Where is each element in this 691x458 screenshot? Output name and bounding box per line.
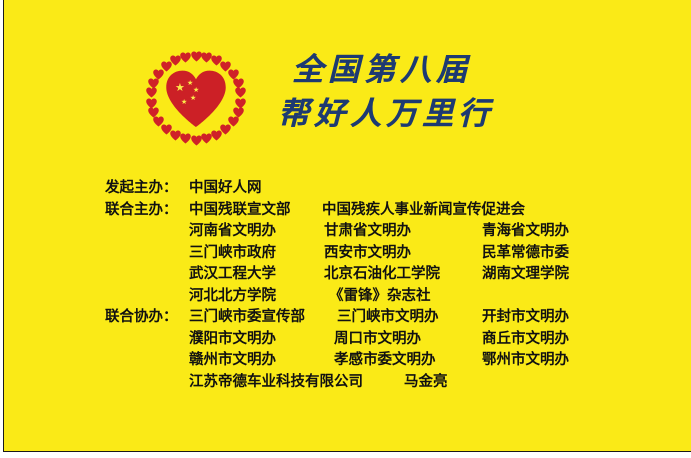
credit-entry: 河北北方学院 xyxy=(189,284,276,305)
credit-label: 联合主办： xyxy=(105,198,189,219)
credit-entry: 开封市文明办 xyxy=(482,305,569,326)
credit-entry: 三门峡市委宣传部 xyxy=(189,305,305,326)
credit-entry: 江苏帝德车业科技有限公司 xyxy=(189,370,363,391)
credit-row: 赣州市文明办孝感市委文明办鄂州市文明办 xyxy=(4,348,691,370)
credit-entry: 商丘市文明办 xyxy=(482,327,569,348)
credit-entry: 三门峡市文明办 xyxy=(337,305,439,326)
mini-heart-icon xyxy=(191,51,202,62)
credit-row: 河北北方学院《雷锋》杂志社 xyxy=(4,284,691,306)
credit-entry: 马金亮 xyxy=(404,370,448,391)
big-heart-icon: ★ ★ ★ ★ ★ xyxy=(165,70,227,127)
credit-entry: 北京石油化工学院 xyxy=(324,262,440,283)
flag-star-large: ★ xyxy=(175,83,185,92)
credit-row: 濮阳市文明办周口市文明办商丘市文明办 xyxy=(4,327,691,349)
title-line-1: 全国第八届 xyxy=(292,48,572,92)
credit-entry: 河南省文明办 xyxy=(189,219,276,240)
poster-header: ★ ★ ★ ★ ★ 全国第八届 帮好人万里行 xyxy=(4,40,691,155)
credit-entry: 青海省文明办 xyxy=(482,219,569,240)
credit-entry: 鄂州市文明办 xyxy=(482,348,569,369)
credit-entry: 中国好人网 xyxy=(189,176,262,197)
credit-label: 发起主办： xyxy=(105,176,189,197)
credit-entry: 武汉工程大学 xyxy=(189,262,276,283)
credit-entry: 中国残疾人事业新闻宣传促进会 xyxy=(322,198,525,219)
title-line-2: 帮好人万里行 xyxy=(278,92,572,136)
credit-entry: 中国残联宣文部 xyxy=(189,198,291,219)
credit-entry: 甘肃省文明办 xyxy=(324,219,411,240)
mini-heart-icon xyxy=(180,52,191,63)
flag-star-3: ★ xyxy=(190,94,196,103)
flag-star-4: ★ xyxy=(181,98,187,107)
mini-heart-icon xyxy=(191,135,202,146)
mini-heart-icon xyxy=(146,98,157,109)
credit-entry: 民革常德市委 xyxy=(482,241,569,262)
credits-block: 发起主办：中国好人网联合主办：中国残联宣文部中国残疾人事业新闻宣传促进会河南省文… xyxy=(4,176,691,391)
credit-row: 联合主办：中国残联宣文部中国残疾人事业新闻宣传促进会 xyxy=(4,198,691,220)
poster-canvas: ★ ★ ★ ★ ★ 全国第八届 帮好人万里行 发起主办：中国好人网联合主办：中国… xyxy=(3,0,691,452)
mini-heart-icon xyxy=(146,87,157,98)
credit-entry: 周口市文明办 xyxy=(334,327,421,348)
credit-label: 联合协办： xyxy=(105,305,189,326)
credit-row: 联合协办：三门峡市委宣传部三门峡市文明办开封市文明办 xyxy=(4,305,691,327)
credit-entry: 湖南文理学院 xyxy=(482,262,569,283)
credit-row: 河南省文明办甘肃省文明办青海省文明办 xyxy=(4,219,691,241)
mini-heart-icon xyxy=(180,133,191,144)
heart-emblem: ★ ★ ★ ★ ★ xyxy=(144,50,248,146)
poster-title: 全国第八届 帮好人万里行 xyxy=(292,48,572,136)
credit-row: 三门峡市政府西安市文明办民革常德市委 xyxy=(4,241,691,263)
credit-entry: 濮阳市文明办 xyxy=(189,327,276,348)
credit-entry: 三门峡市政府 xyxy=(189,241,276,262)
credit-entry: 西安市文明办 xyxy=(324,241,411,262)
mini-heart-icon xyxy=(201,133,212,144)
mini-heart-icon xyxy=(148,107,159,118)
credit-row: 武汉工程大学北京石油化工学院湖南文理学院 xyxy=(4,262,691,284)
credit-row: 发起主办：中国好人网 xyxy=(4,176,691,198)
credit-row: 江苏帝德车业科技有限公司马金亮 xyxy=(4,370,691,392)
credit-entry: 孝感市委文明办 xyxy=(334,348,436,369)
credit-entry: 赣州市文明办 xyxy=(189,348,276,369)
mini-heart-icon xyxy=(211,130,222,141)
credit-entry: 《雷锋》杂志社 xyxy=(329,284,431,305)
